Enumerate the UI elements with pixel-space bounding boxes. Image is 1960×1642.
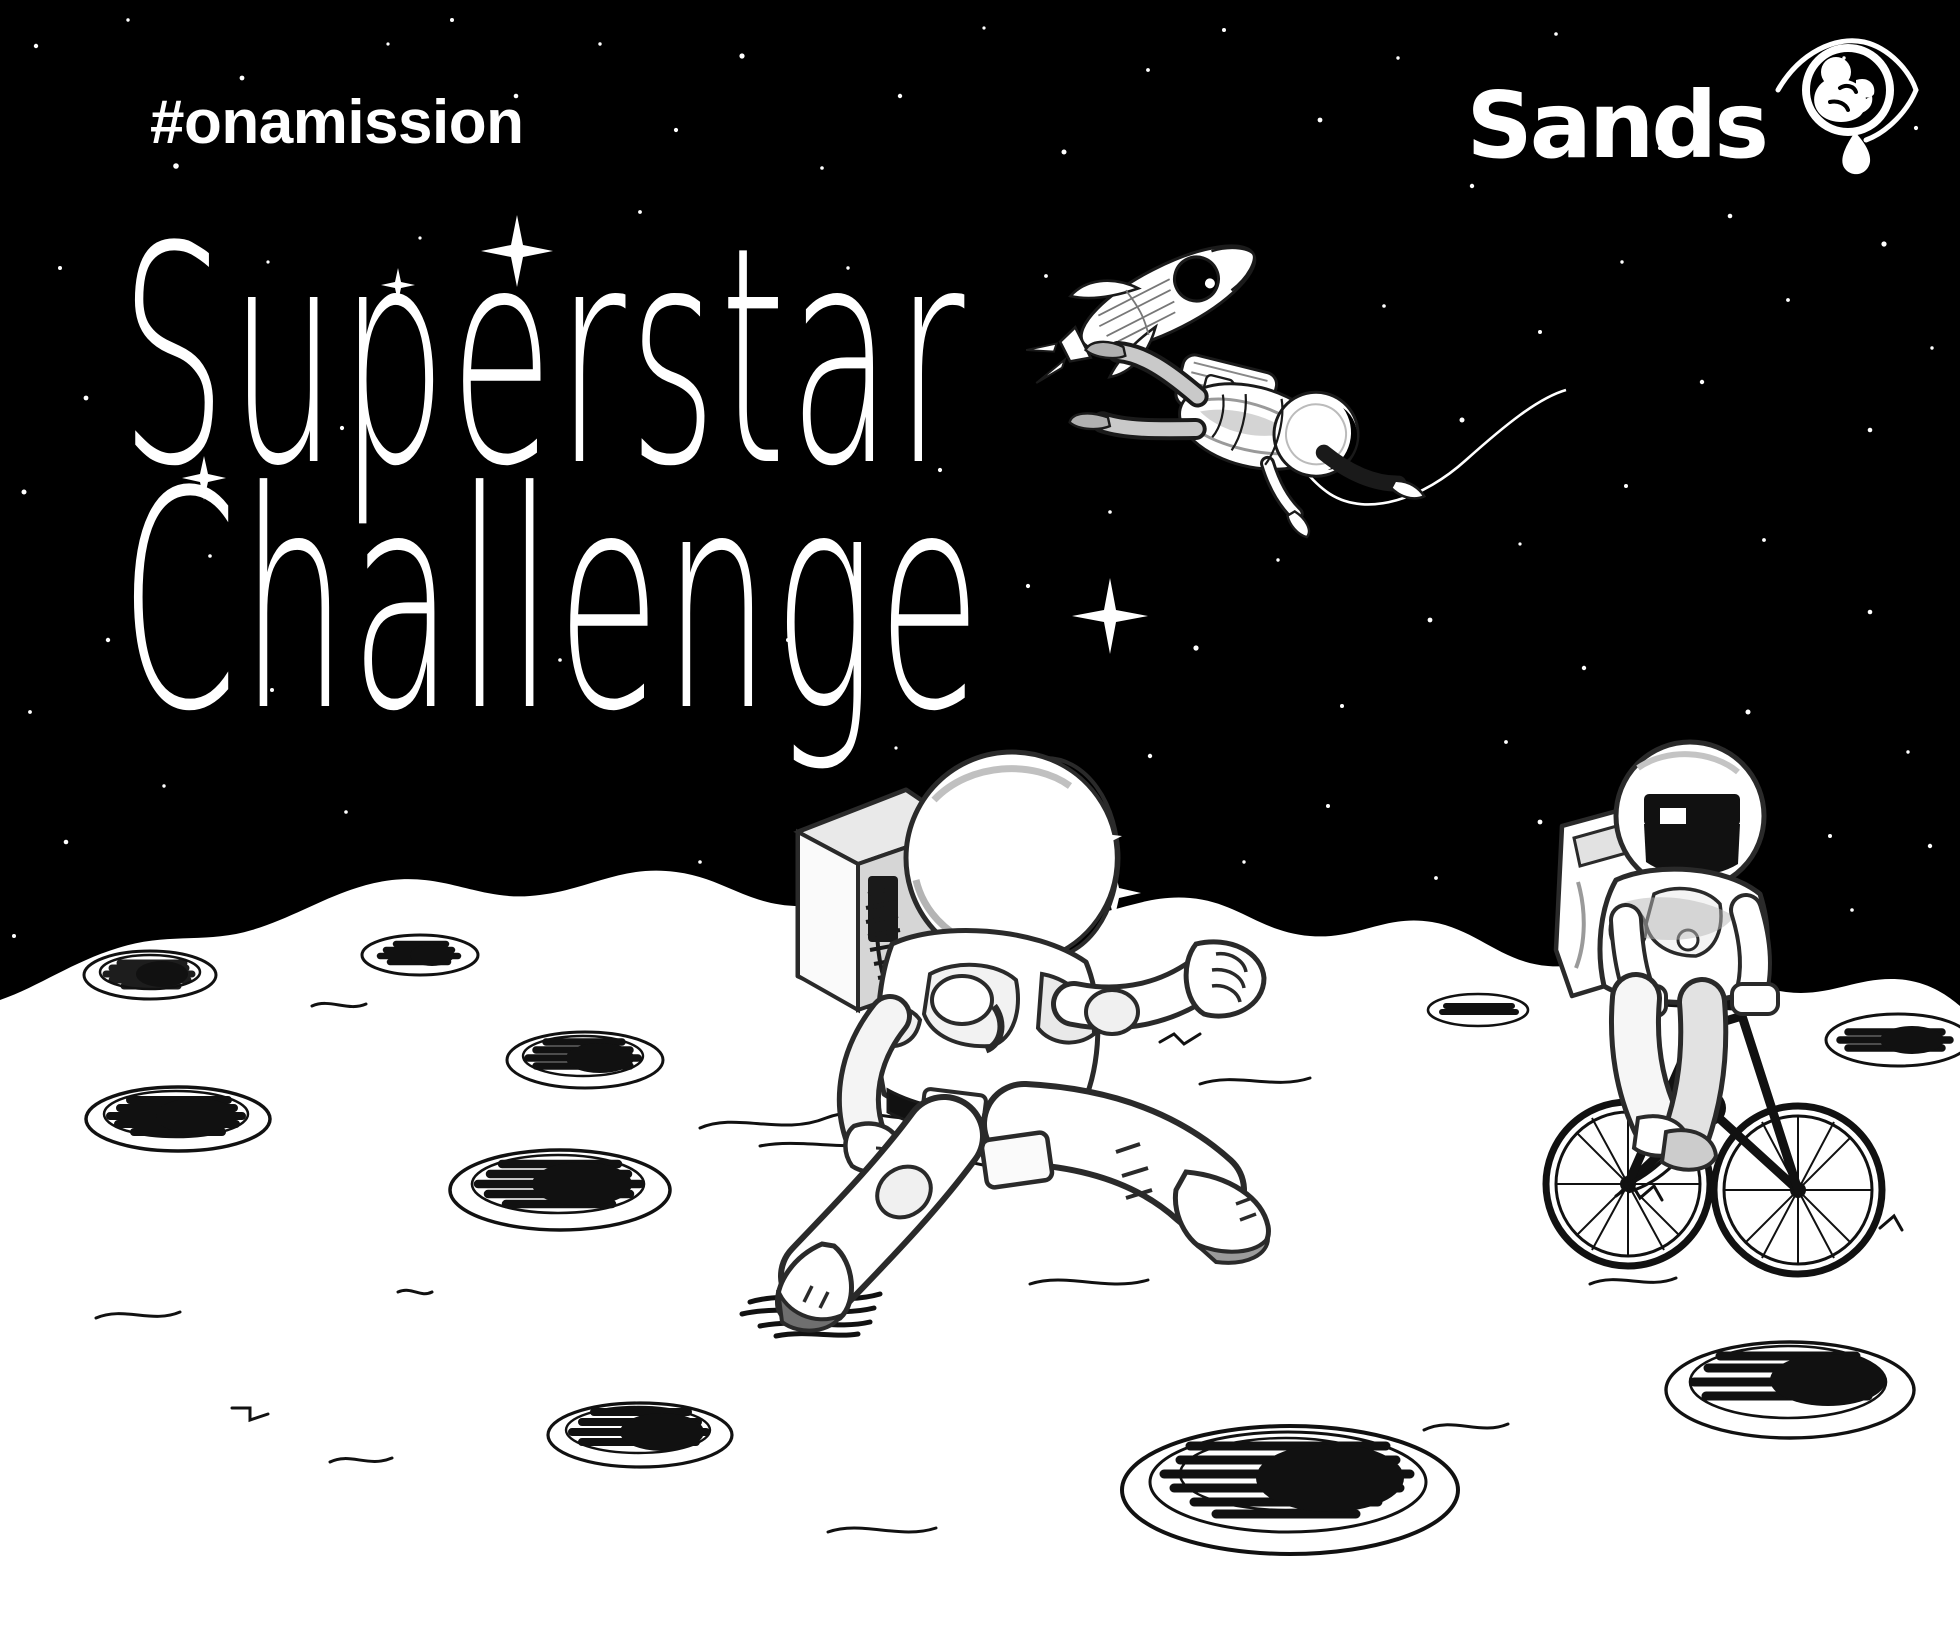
title-line-challenge: Challenge bbox=[120, 463, 984, 742]
sands-wordmark: Sands bbox=[1467, 80, 1766, 172]
eye-with-baby-and-teardrop-icon bbox=[1770, 28, 1920, 178]
poster-canvas: #onamission Superstar Challenge Sands bbox=[0, 0, 1960, 1642]
page-title: Superstar Challenge bbox=[120, 218, 1663, 742]
rider bbox=[1556, 742, 1778, 1170]
hashtag-label: #onamission bbox=[150, 92, 524, 154]
sands-logo[interactable]: Sands bbox=[1467, 28, 1920, 178]
